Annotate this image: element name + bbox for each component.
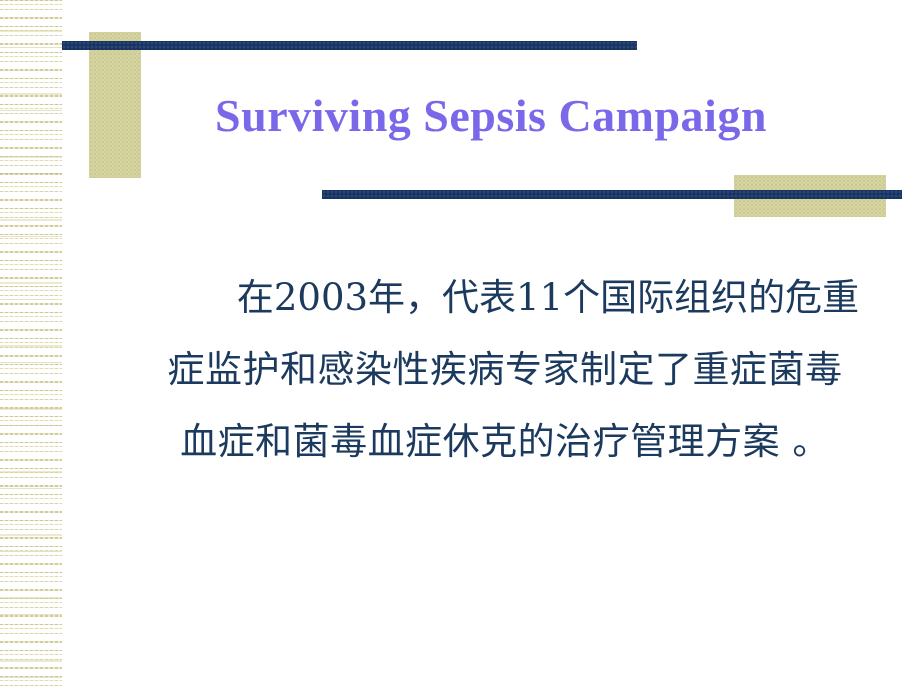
slide-body-text: 在2003年，代表11个国际组织的危重 症监护和感染性疾病专家制定了重症菌毒 血… — [105, 262, 905, 478]
slide-canvas: Surviving Sepsis Campaign 在2003年，代表11个国际… — [0, 0, 920, 690]
body-line-2: 症监护和感染性疾病专家制定了重症菌毒 — [105, 334, 905, 406]
body-line-1: 在2003年，代表11个国际组织的危重 — [105, 262, 905, 334]
body-line-3: 血症和菌毒血症休克的治疗管理方案 。 — [105, 406, 905, 478]
navy-rule-bottom — [322, 190, 902, 199]
sidebar-stripe-overlay — [0, 0, 62, 690]
decorative-striped-sidebar — [0, 0, 62, 690]
navy-rule-top — [62, 41, 637, 50]
page-title: Surviving Sepsis Campaign — [62, 88, 920, 144]
